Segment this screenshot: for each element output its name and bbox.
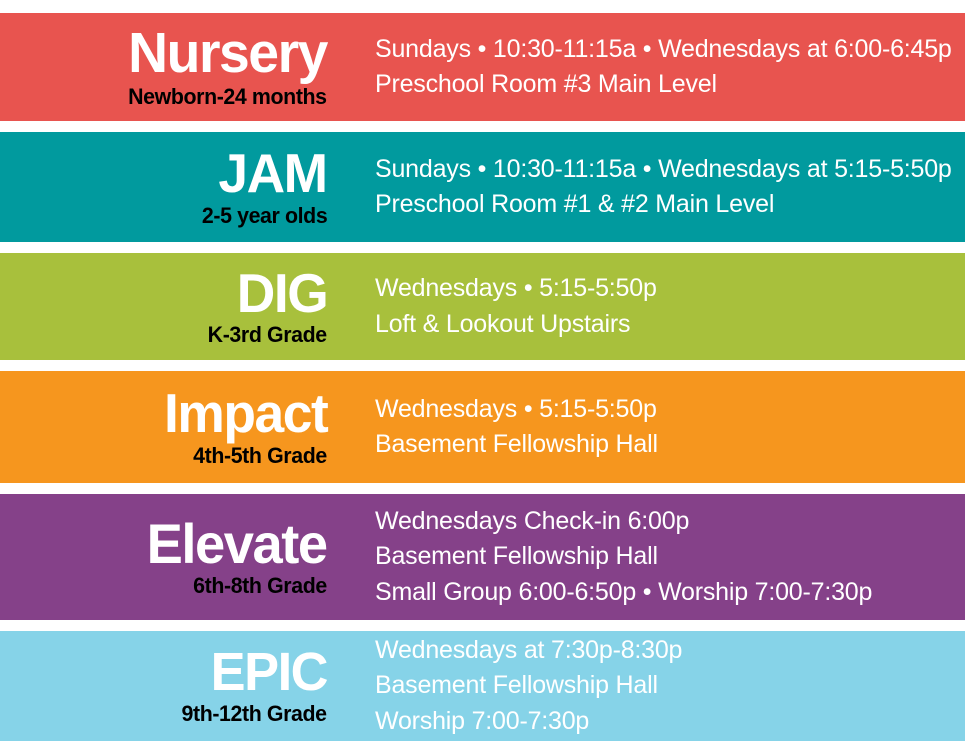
schedule-row-nursery[interactable]: Nursery Newborn-24 months Sundays • 10:3… [0,13,965,121]
detail-line: Loft & Lookout Upstairs [375,307,951,343]
program-identity-epic: EPIC 9th-12th Grade [0,631,345,741]
detail-line: Wednesdays Check-in 6:00p [375,504,951,540]
program-name-nursery: Nursery [128,26,327,80]
detail-line: Preschool Room #1 & #2 Main Level [375,187,952,223]
program-name-epic: EPIC [211,647,327,698]
program-identity-nursery: Nursery Newborn-24 months [0,13,345,121]
detail-line: Basement Fellowship Hall [375,427,951,463]
program-name-dig: DIG [237,267,327,319]
program-details-epic: Wednesdays at 7:30p-8:30p Basement Fello… [345,631,965,741]
schedule-row-jam[interactable]: JAM 2-5 year olds Sundays • 10:30-11:15a… [0,132,965,242]
detail-line: Small Group 6:00-6:50p • Worship 7:00-7:… [375,575,951,611]
program-name-impact: Impact [164,387,327,439]
detail-line: Basement Fellowship Hall [375,668,951,704]
detail-line: Sundays • 10:30-11:15a • Wednesdays at 5… [375,152,952,188]
schedule-row-dig[interactable]: DIG K-3rd Grade Wednesdays • 5:15-5:50p … [0,253,965,360]
program-age-range-impact: 4th-5th Grade [193,444,327,467]
program-identity-dig: DIG K-3rd Grade [0,253,345,360]
schedule-row-impact[interactable]: Impact 4th-5th Grade Wednesdays • 5:15-5… [0,371,965,483]
program-identity-jam: JAM 2-5 year olds [0,132,345,242]
program-age-range-epic: 9th-12th Grade [182,702,327,725]
program-age-range-nursery: Newborn-24 months [128,85,327,108]
program-identity-impact: Impact 4th-5th Grade [0,371,345,483]
detail-line: Basement Fellowship Hall [375,539,951,575]
program-details-impact: Wednesdays • 5:15-5:50p Basement Fellows… [345,371,965,483]
detail-line: Worship 7:00-7:30p [375,704,951,740]
program-age-range-dig: K-3rd Grade [208,323,327,346]
program-details-nursery: Sundays • 10:30-11:15a • Wednesdays at 6… [345,13,965,121]
program-identity-elevate: Elevate 6th-8th Grade [0,494,345,620]
schedule-row-elevate[interactable]: Elevate 6th-8th Grade Wednesdays Check-i… [0,494,965,620]
detail-line: Wednesdays at 7:30p-8:30p [375,633,951,669]
ministry-schedule-board: Nursery Newborn-24 months Sundays • 10:3… [0,0,965,745]
program-name-jam: JAM [219,147,327,199]
program-name-elevate: Elevate [147,517,327,570]
program-age-range-elevate: 6th-8th Grade [193,574,327,597]
detail-line: Wednesdays • 5:15-5:50p [375,392,951,428]
detail-line: Wednesdays • 5:15-5:50p [375,271,951,307]
program-details-elevate: Wednesdays Check-in 6:00p Basement Fello… [345,494,965,620]
detail-line: Preschool Room #3 Main Level [375,67,952,103]
program-details-jam: Sundays • 10:30-11:15a • Wednesdays at 5… [345,132,965,242]
schedule-row-epic[interactable]: EPIC 9th-12th Grade Wednesdays at 7:30p-… [0,631,965,741]
program-age-range-jam: 2-5 year olds [202,204,327,227]
detail-line: Sundays • 10:30-11:15a • Wednesdays at 6… [375,32,952,68]
program-details-dig: Wednesdays • 5:15-5:50p Loft & Lookout U… [345,253,965,360]
